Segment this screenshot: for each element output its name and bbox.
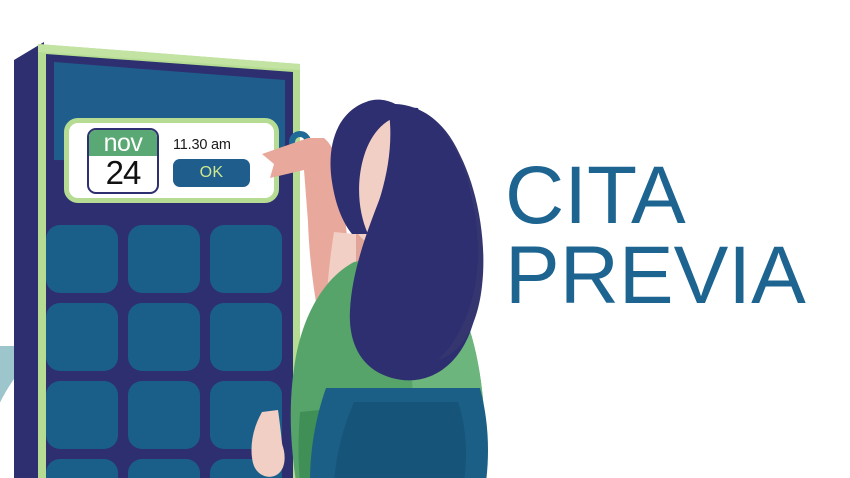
page-title: CITA PREVIA (505, 156, 835, 317)
kiosk-tile (46, 225, 118, 293)
lowered-forearm (251, 410, 284, 462)
title-line-2: PREVIA (505, 236, 835, 316)
kiosk-tile (46, 303, 118, 371)
kiosk-tile (128, 303, 200, 371)
title-line-1: CITA (505, 156, 835, 236)
illustration-canvas: nov 24 11.30 am OK (0, 0, 850, 478)
appointment-time-label: 11.30 am (173, 137, 231, 153)
jeans-shadow (334, 402, 466, 478)
kiosk-tile (128, 381, 200, 449)
calendar-icon: nov 24 (87, 128, 159, 194)
calendar-month-label: nov (89, 130, 157, 156)
kiosk-tile (46, 459, 118, 478)
kiosk-tile (128, 459, 200, 478)
kiosk-tile (46, 381, 118, 449)
person-illustration (238, 82, 538, 478)
kiosk-tile (128, 225, 200, 293)
calendar-day-label: 24 (89, 156, 157, 192)
